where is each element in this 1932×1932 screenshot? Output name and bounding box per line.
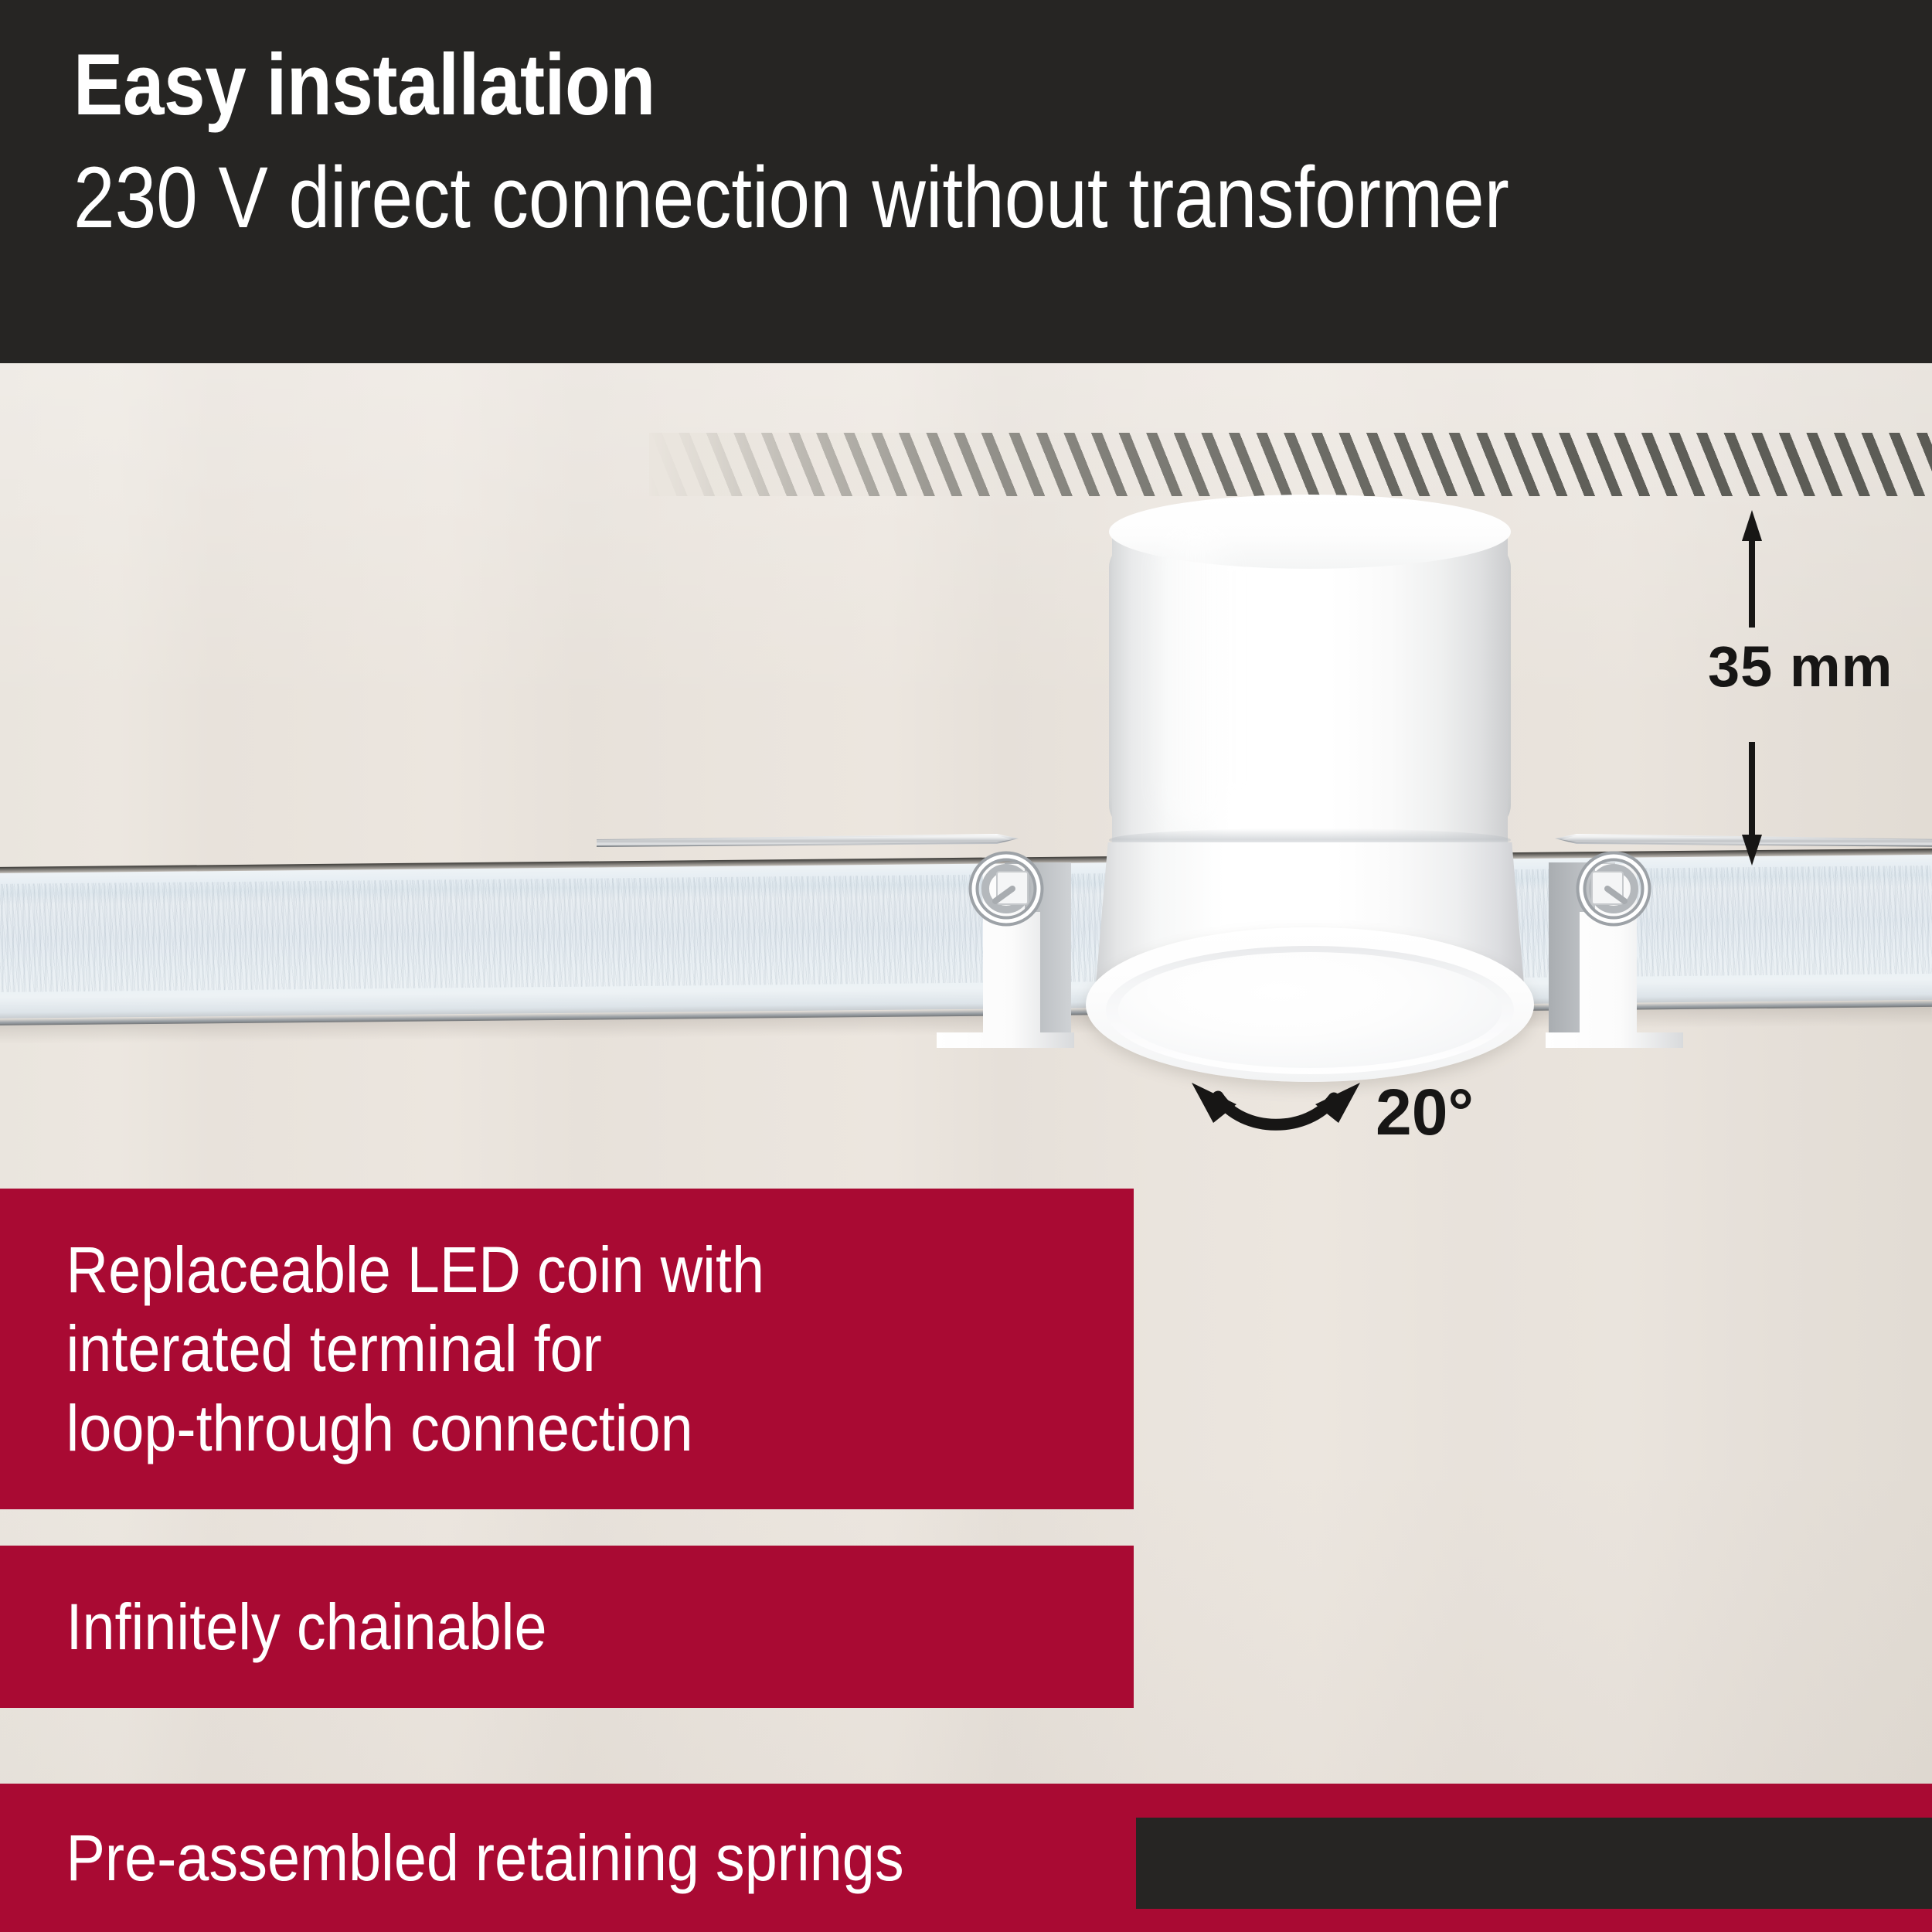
swivel-angle-callout: 20° [1182,1078,1507,1171]
double-arrow-vertical-icon [1742,510,1762,628]
double-arrow-vertical-icon-lower [1742,742,1762,866]
header-content: Easy installation 230 V direct connectio… [73,39,1886,248]
swivel-double-arrow-icon [1182,1078,1368,1163]
depth-dimension-callout: 35 mm [1708,510,1932,866]
page-subtitle: 230 V direct connection without transfor… [73,148,1632,248]
recessed-led-downlight [1078,495,1542,1066]
feature-banner-1: Replaceable LED coin with interated term… [0,1189,1134,1509]
spring-coil-right [1581,856,1646,921]
led-diffuser-lens [1118,952,1502,1068]
ceiling-cavity-hatching [649,433,1932,496]
feature-banner-3-text: Pre-assembled retaining springs [0,1818,932,1897]
depth-dimension-label: 35 mm [1708,634,1932,699]
hatch-fade-overlay [649,433,1932,496]
feature-banner-1-text: Replaceable LED coin with interated term… [0,1230,792,1468]
feature-banner-2-text: Infinitely chainable [0,1587,575,1666]
header-band: Easy installation 230 V direct connectio… [0,0,1932,363]
spring-coil-left [974,856,1039,921]
infographic-canvas: 35 mm 20° Easy installation 230 V direct… [0,0,1932,1932]
footer-dark-block [1136,1818,1932,1909]
swivel-angle-label: 20° [1376,1075,1474,1150]
feature-banner-2: Infinitely chainable [0,1546,1134,1708]
page-title: Easy installation [73,39,1632,132]
fixture-highlight [1149,530,1242,824]
